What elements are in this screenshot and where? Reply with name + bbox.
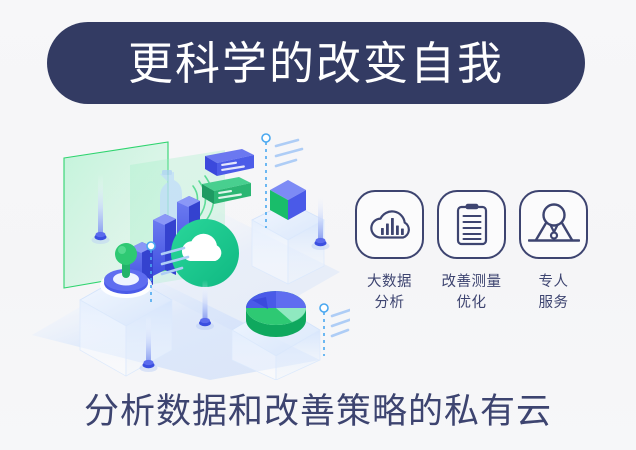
support-person-icon-box: [519, 190, 588, 259]
feature-big-data-analysis[interactable]: 大数据 分析: [352, 190, 427, 313]
promo-banner: 更科学的改变自我 大数据 分析: [0, 0, 636, 450]
feature-measurement-optimization[interactable]: 改善测量 优化: [434, 190, 509, 313]
cloud-chart-icon-box: [355, 190, 424, 259]
support-person-icon: [528, 202, 580, 248]
feature-dedicated-service[interactable]: 专人 服务: [516, 190, 591, 313]
feature-label: 改善测量 优化: [442, 272, 502, 313]
clipboard-icon: [452, 202, 492, 248]
feature-label: 大数据 分析: [367, 272, 412, 313]
feature-list: 大数据 分析 改善测量 优化: [352, 190, 592, 313]
cloud-chart-icon: [366, 204, 414, 246]
cloud-badge: [171, 219, 239, 287]
illustration: [20, 120, 350, 380]
clipboard-icon-box: [437, 190, 506, 259]
header-pill: 更科学的改变自我: [47, 22, 585, 104]
page-title: 更科学的改变自我: [128, 41, 504, 86]
feature-label: 专人 服务: [539, 272, 569, 313]
tagline: 分析数据和改善策略的私有云: [0, 383, 636, 434]
pie-chart-3d: [246, 291, 306, 337]
